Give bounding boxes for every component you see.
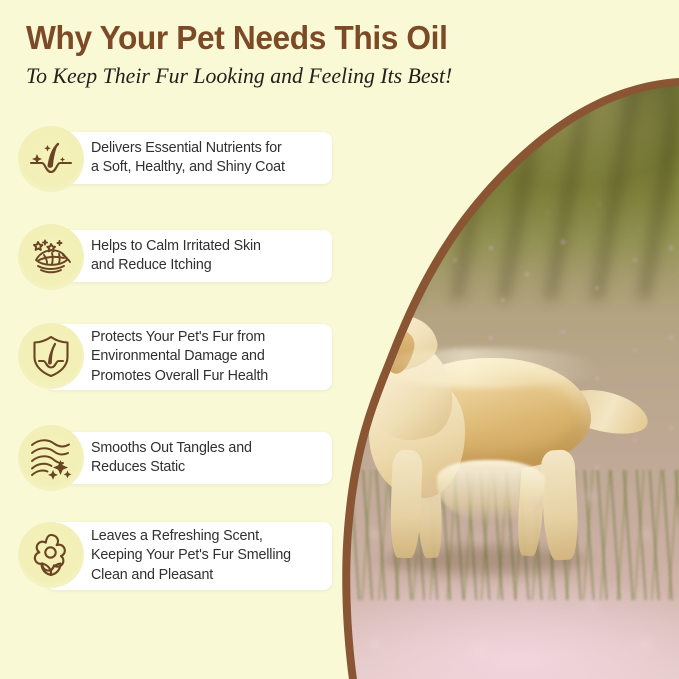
feature-card: Leaves a Refreshing Scent, Keeping Your … xyxy=(46,522,332,590)
dog-rim-light xyxy=(373,348,601,388)
page-subtitle: To Keep Their Fur Looking and Feeling It… xyxy=(26,62,442,90)
leaf-sparkle-icon xyxy=(18,224,84,290)
feature-card: Smooths Out Tangles and Reduces Static xyxy=(46,432,332,484)
feature-card: Protects Your Pet's Fur from Environment… xyxy=(46,324,332,390)
hair-follicle-sparkle-icon xyxy=(18,126,84,192)
feature-card: Delivers Essential Nutrients for a Soft,… xyxy=(46,132,332,184)
photo-image xyxy=(319,0,679,679)
feature-text: Leaves a Refreshing Scent, Keeping Your … xyxy=(46,527,301,586)
wavy-strands-sparkle-icon xyxy=(18,425,84,491)
infographic-root: Why Your Pet Needs This Oil To Keep Thei… xyxy=(0,0,679,679)
wildflowers-near xyxy=(319,470,679,679)
header: Why Your Pet Needs This Oil To Keep Thei… xyxy=(26,18,446,90)
photo-panel xyxy=(319,0,679,679)
dog-muzzle xyxy=(330,332,380,363)
shield-follicle-icon xyxy=(18,323,84,389)
feature-card: Helps to Calm Irritated Skin and Reduce … xyxy=(46,230,332,282)
photo-inner xyxy=(319,0,679,679)
dog-eye xyxy=(375,330,382,337)
flower-leaves-icon xyxy=(18,522,84,588)
page-title: Why Your Pet Needs This Oil xyxy=(26,18,429,58)
